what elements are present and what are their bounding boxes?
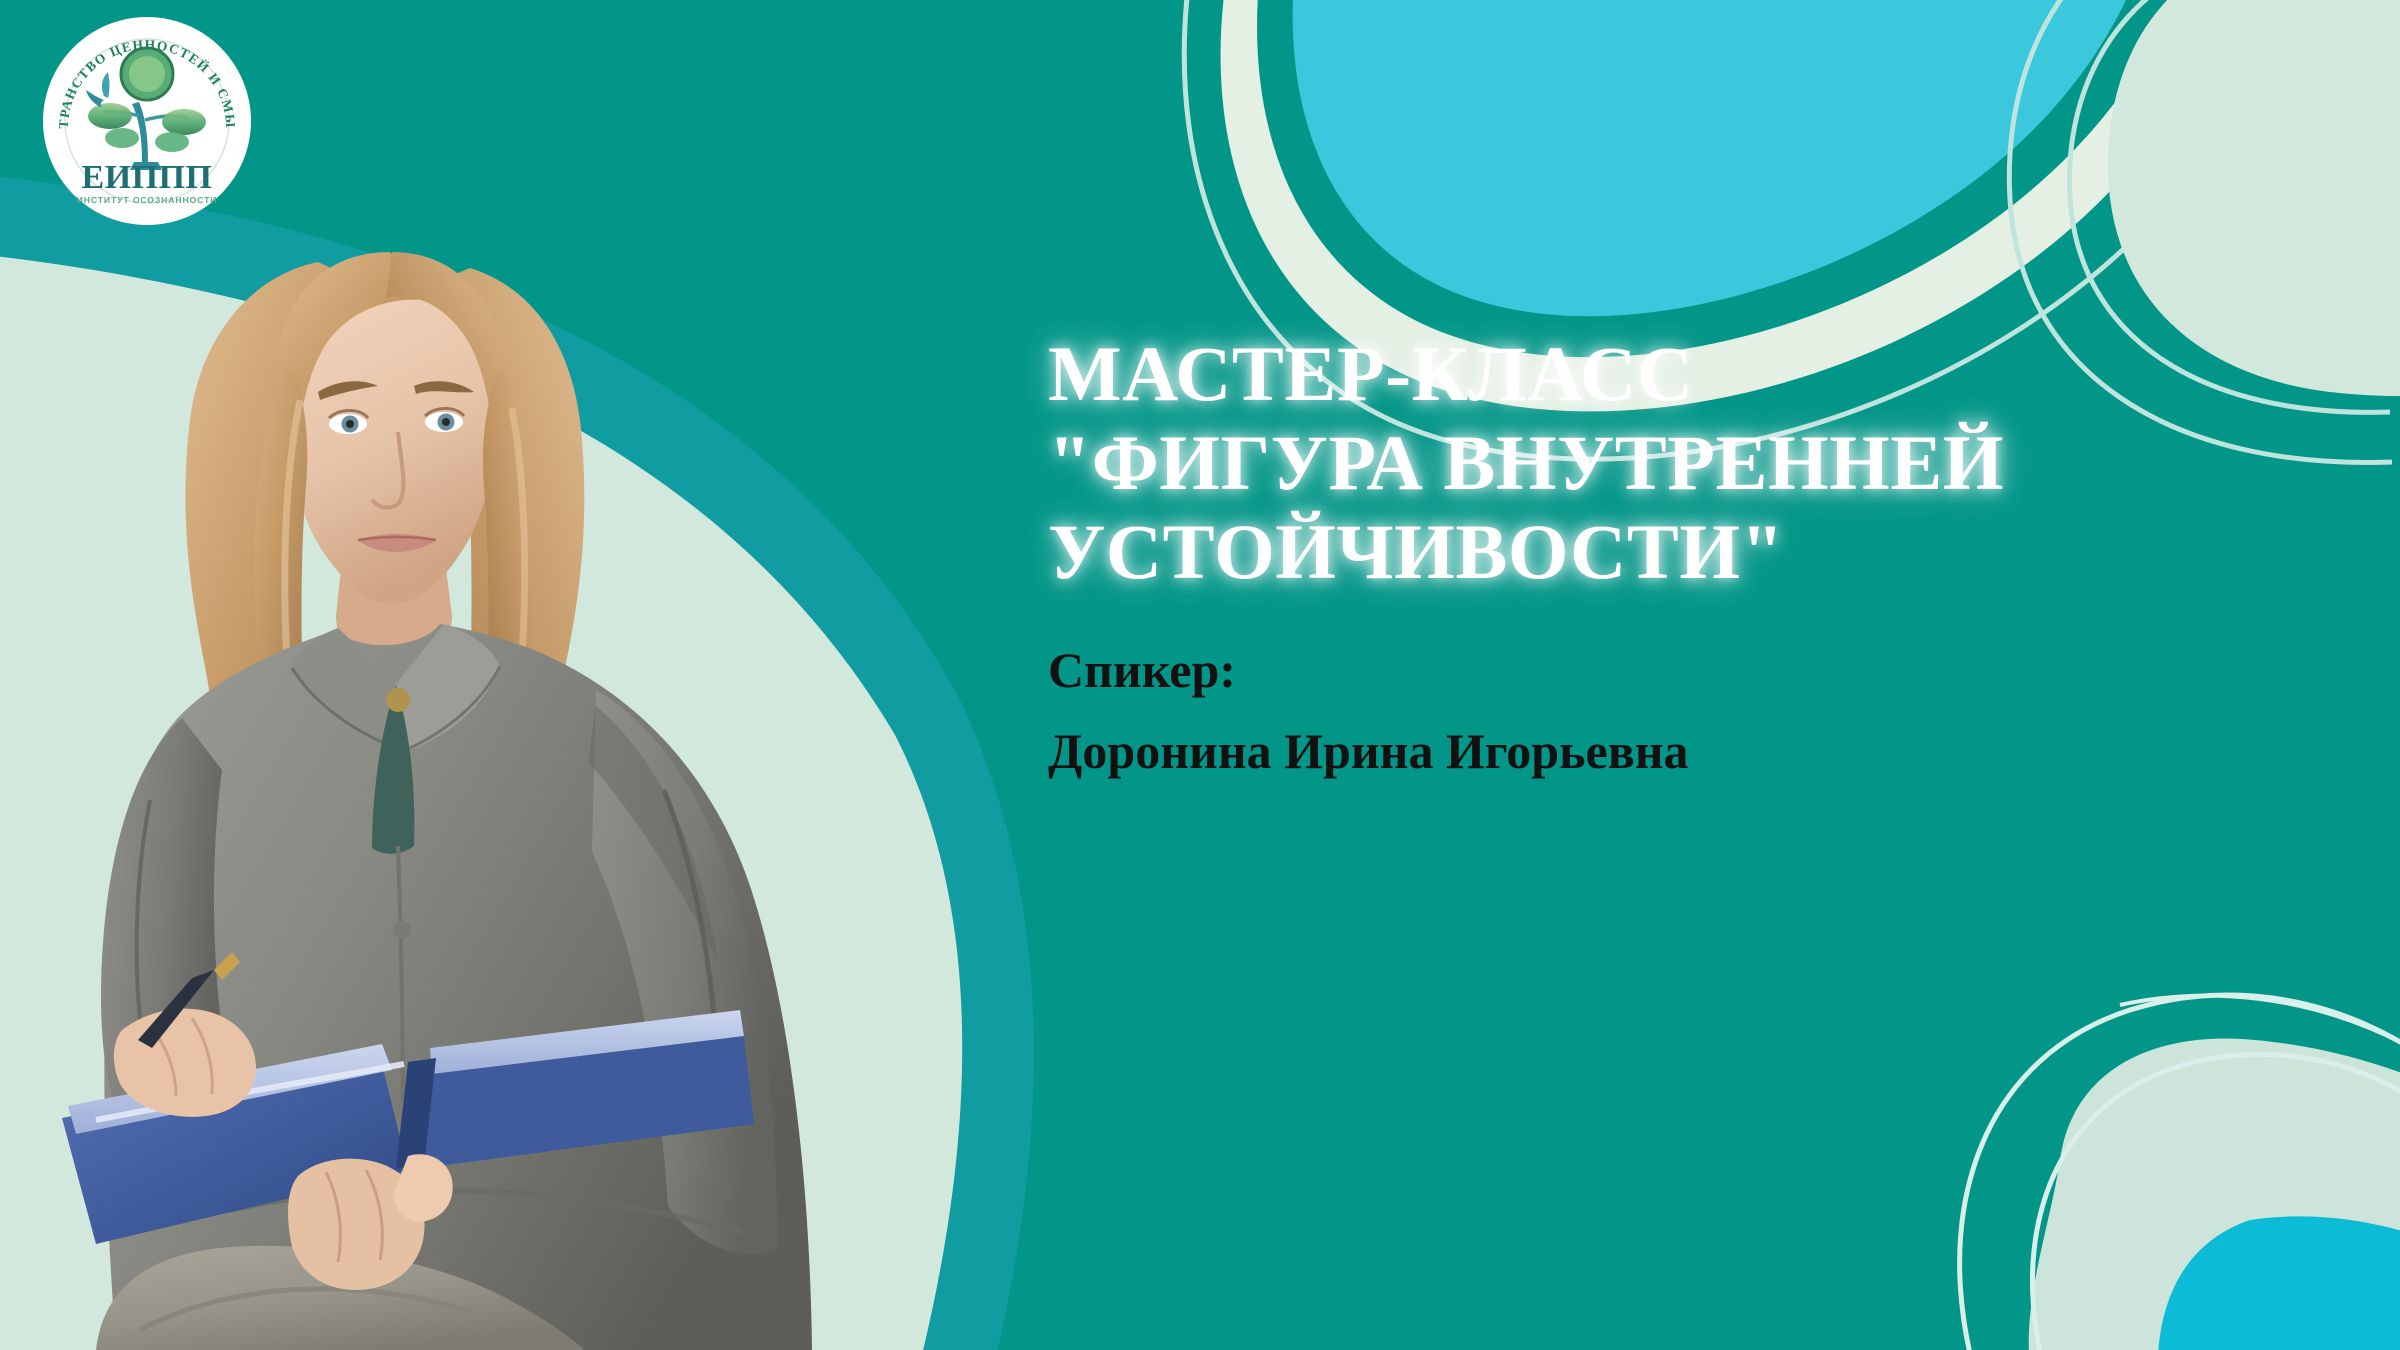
pupil-right xyxy=(442,418,450,426)
page-title: МАСТЕР-КЛАСС "ФИГУРА ВНУТРЕННЕЙ УСТОЙЧИВ… xyxy=(1048,330,2228,597)
tree-foliage-mid-right xyxy=(155,132,189,152)
thin-arc-bottom-right-third xyxy=(2120,996,2400,1116)
cyan-blob-bottom-right-shape xyxy=(2157,1216,2400,1350)
cyan-blob-top-shape xyxy=(1293,0,2161,316)
tree-foliage-mid-left xyxy=(105,128,139,148)
speaker-name: Доронина Ирина Игорьевна xyxy=(1048,724,2228,779)
logo-acronym: ЕИППП xyxy=(82,159,213,196)
eippp-logo-graphic: ПРОСТРАНСТВО ЦЕННОСТЕЙ И СМЫСЛОВ xyxy=(38,12,256,230)
logo-subtitle: ИНСТИТУТ ОСОЗНАННОСТИ xyxy=(77,195,218,205)
tree-canopy-globe-inner xyxy=(129,56,165,92)
thin-arc-bottom-right-inner xyxy=(2032,1054,2400,1350)
shirt-button-2 xyxy=(393,921,411,939)
speaker-label: Спикер: xyxy=(1048,643,2228,698)
pupil-left xyxy=(346,420,354,428)
mint-blob-bottom-right-shape xyxy=(2029,1039,2400,1350)
tree-foliage-right xyxy=(162,109,206,135)
thin-arc-bottom-right-outer xyxy=(1960,995,2400,1350)
slide-canvas: МАСТЕР-КЛАСС "ФИГУРА ВНУТРЕННЕЙ УСТОЙЧИВ… xyxy=(0,0,2400,1350)
headline-group: МАСТЕР-КЛАСС "ФИГУРА ВНУТРЕННЕЙ УСТОЙЧИВ… xyxy=(1048,330,2228,779)
teal-crescent-top-shape xyxy=(1257,0,2205,357)
tree-foliage-left xyxy=(88,103,132,129)
shirt-button-1 xyxy=(386,688,410,712)
eippp-logo[interactable]: ПРОСТРАНСТВО ЦЕННОСТЕЙ И СМЫСЛОВ xyxy=(38,12,256,230)
